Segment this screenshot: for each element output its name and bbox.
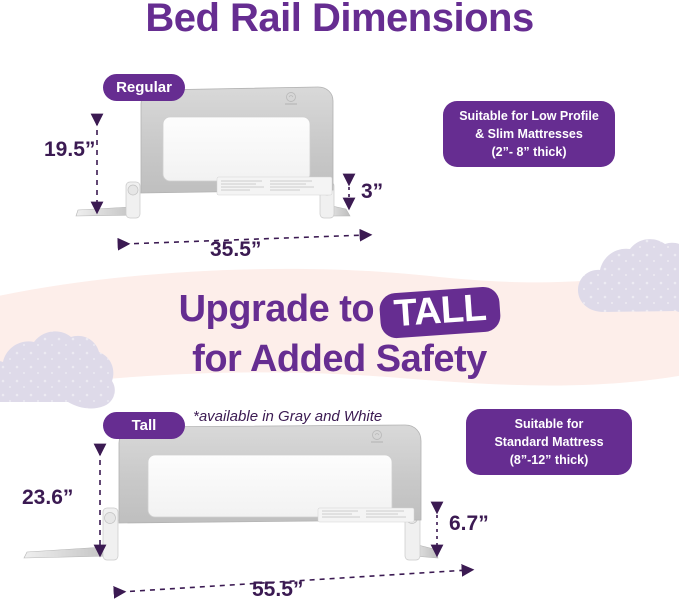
callout-standard-line1: Suitable for	[515, 415, 584, 433]
dimension-width-regular: 35.5”	[210, 238, 261, 262]
bed-rail-regular	[76, 87, 350, 218]
tall-chip: TALL	[379, 286, 502, 339]
availability-note: *available in Gray and White	[193, 408, 382, 425]
headline-line-1: Upgrade toTALL	[0, 288, 679, 333]
dimension-height-regular: 19.5”	[44, 138, 95, 162]
bed-rail-tall	[24, 425, 438, 560]
headline-upgrade-text: Upgrade to	[179, 288, 375, 330]
dimension-height-tall: 23.6”	[22, 486, 73, 510]
callout-low-profile-line1: Suitable for Low Profile	[459, 107, 599, 125]
badge-tall-label: Tall	[132, 418, 157, 433]
badge-tall: Tall	[103, 412, 185, 439]
badge-regular-label: Regular	[116, 80, 172, 95]
infographic-page: Bed Rail Dimensions Regular Suitable for…	[0, 0, 679, 607]
badge-regular: Regular	[103, 74, 185, 101]
callout-low-profile: Suitable for Low Profile & Slim Mattress…	[443, 101, 615, 167]
dimension-clearance-regular: 3”	[361, 180, 383, 204]
headline-line-2: for Added Safety	[0, 338, 679, 381]
dimension-clearance-tall: 6.7”	[449, 512, 489, 536]
callout-standard-line3: (8”-12” thick)	[510, 451, 589, 469]
callout-standard-mattress: Suitable for Standard Mattress (8”-12” t…	[466, 409, 632, 475]
callout-low-profile-line2: & Slim Mattresses	[475, 125, 583, 143]
callout-standard-line2: Standard Mattress	[494, 433, 603, 451]
callout-low-profile-line3: (2”- 8” thick)	[491, 143, 566, 161]
dimension-width-tall: 55.5”	[252, 578, 303, 602]
page-title: Bed Rail Dimensions	[0, 0, 679, 41]
